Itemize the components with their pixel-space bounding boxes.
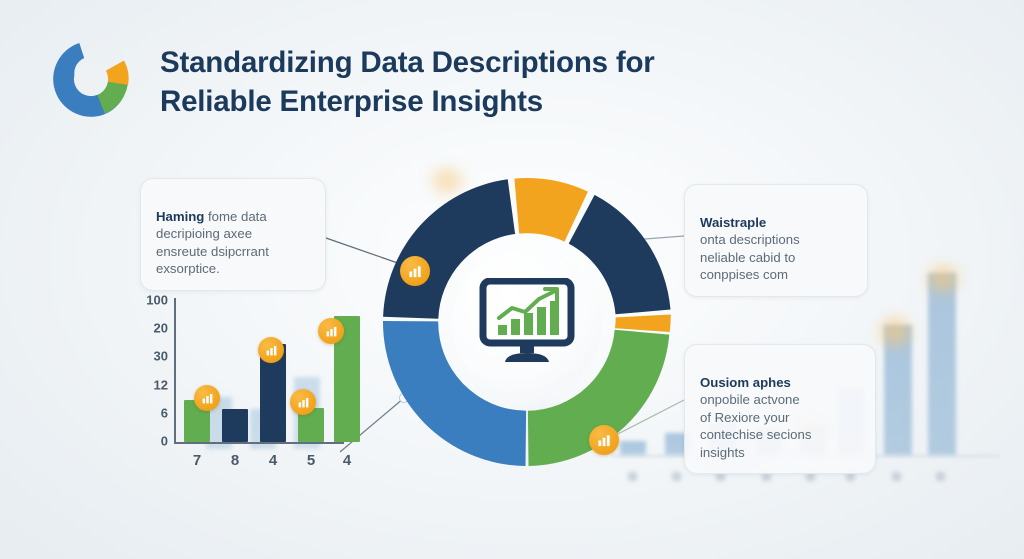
background-tick: [628, 472, 637, 481]
x-tick-label: 7: [193, 452, 201, 469]
header: Standardizing Data Descriptions for Reli…: [46, 34, 655, 124]
bar-chart-badge-icon: [265, 344, 278, 357]
y-tick-label: 0: [134, 434, 168, 449]
background-ghost-bar: [928, 273, 956, 455]
infographic-canvas: Standardizing Data Descriptions for Reli…: [0, 0, 1024, 559]
callout-bottom-right-heading: Ousiom aphes: [700, 375, 791, 390]
badge-bar-2[interactable]: [258, 337, 284, 363]
page-title: Standardizing Data Descriptions for Reli…: [160, 34, 655, 121]
bar-chart-badge-icon: [201, 392, 214, 405]
monitor-growth-chart-icon: [479, 278, 575, 366]
background-ghost-bar: [884, 325, 912, 455]
badge-donut-left[interactable]: [400, 256, 430, 286]
donut-chart-logo-icon: [46, 34, 136, 124]
callout-top-right-body: onta descriptions neliable cabid to conp…: [700, 232, 800, 282]
x-tick-label: 8: [231, 452, 239, 469]
callout-top-right-heading: Waistraple: [700, 215, 766, 230]
callout-top-left-heading: Haming: [156, 209, 204, 224]
bar-chart-badge-icon: [297, 396, 310, 409]
y-tick-label: 100: [134, 293, 168, 308]
plot-area: [174, 294, 344, 442]
donut-chart: [382, 172, 672, 472]
bar-1[interactable]: [222, 409, 248, 442]
background-glow: [880, 318, 910, 346]
badge-bar-4[interactable]: [318, 318, 344, 344]
bar-chart-badge-icon: [408, 264, 423, 279]
badge-bar-3[interactable]: [290, 389, 316, 415]
background-glow: [928, 266, 958, 292]
x-axis: [174, 442, 344, 444]
background-tick: [892, 472, 901, 481]
badge-bar-0[interactable]: [194, 385, 220, 411]
foreground-bar-chart: 100 20 30 12 6 0 7 8 4 5 4: [134, 294, 350, 472]
background-tick: [936, 472, 945, 481]
x-tick-label: 4: [269, 452, 277, 469]
callout-top-left[interactable]: Haming fome data decripioing axee ensreu…: [140, 178, 326, 291]
y-tick-label: 20: [134, 321, 168, 336]
badge-donut-bottom-right[interactable]: [589, 425, 619, 455]
y-tick-label: 30: [134, 349, 168, 364]
y-tick-label: 6: [134, 406, 168, 421]
x-tick-label: 4: [343, 452, 351, 469]
callout-top-right[interactable]: Waistraple onta descriptions neliable ca…: [684, 184, 868, 297]
y-tick-label: 12: [134, 378, 168, 393]
x-tick-label: 5: [307, 452, 315, 469]
donut-segment-orange-right: [615, 315, 671, 333]
bar-chart-badge-icon: [597, 433, 612, 448]
callout-bottom-right[interactable]: Ousiom aphes onpobile actvone of Rexiore…: [684, 344, 876, 474]
background-tick: [672, 472, 681, 481]
callout-bottom-right-body: onpobile actvone of Rexiore your contech…: [700, 392, 811, 460]
bar-chart-badge-icon: [325, 325, 338, 338]
